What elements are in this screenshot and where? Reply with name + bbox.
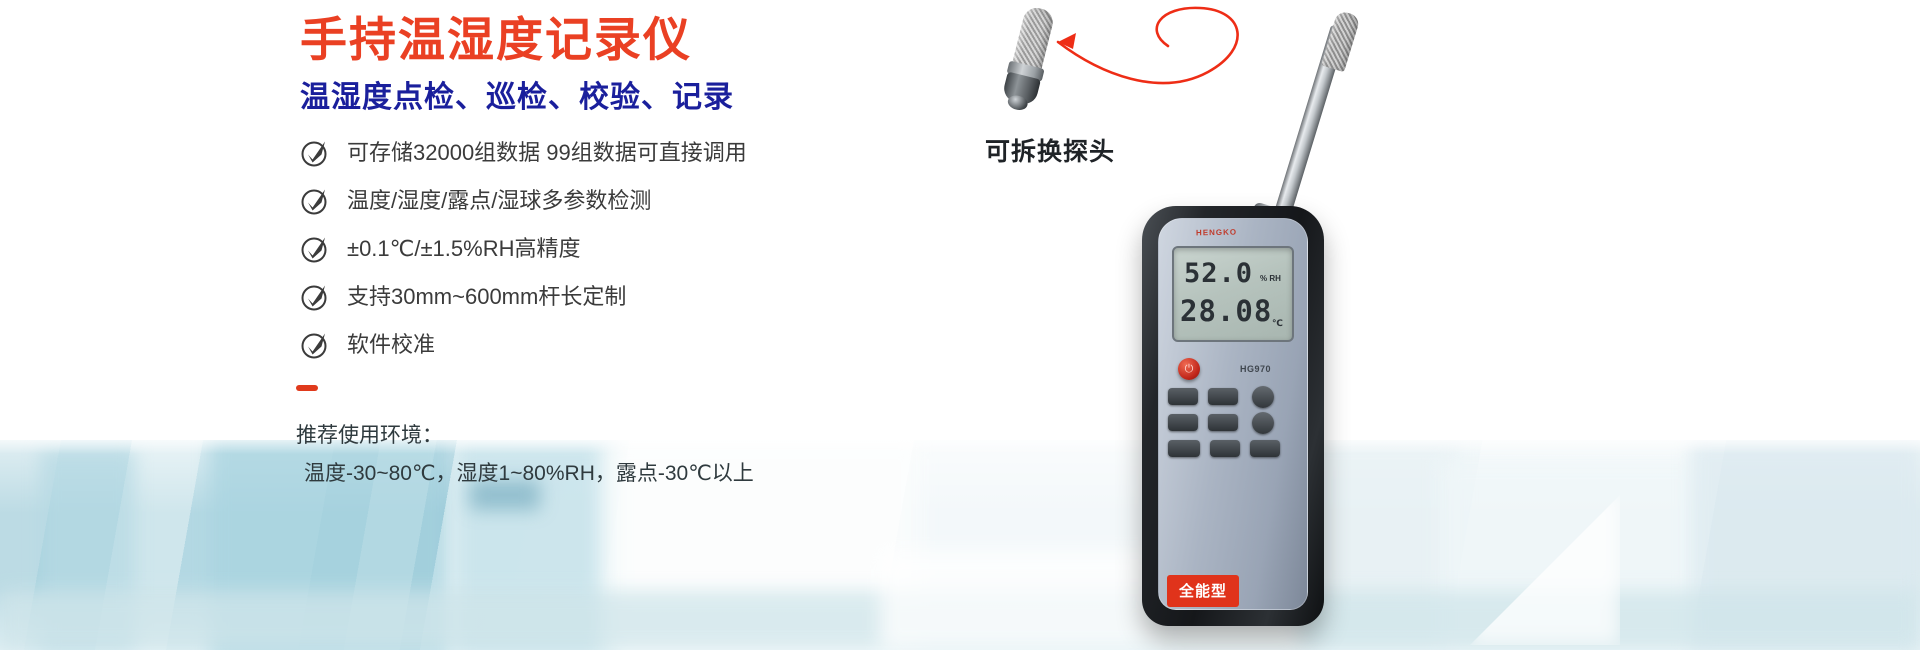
list-item-label: 温度/湿度/露点/湿球多参数检测 xyxy=(347,186,651,216)
lcd-temperature-value: 28.08 xyxy=(1180,296,1272,326)
device-keypad xyxy=(1164,388,1312,508)
device-lcd-screen: 52.0 % RH 28.08 ℃ xyxy=(1172,246,1294,342)
key-hold[interactable] xyxy=(1250,440,1280,457)
key-rec[interactable] xyxy=(1210,440,1240,457)
device-brand-label: HENGKO xyxy=(1196,228,1237,238)
list-item: 支持30mm~600mm杆长定制 xyxy=(300,275,1000,319)
page-title: 手持温湿度记录仪 xyxy=(300,12,692,68)
lcd-temperature-unit: ℃ xyxy=(1272,318,1283,329)
environment-note: 推荐使用环境： 温度-30~80℃，湿度1~80%RH，露点-30℃以上 xyxy=(296,385,996,493)
check-circle-icon xyxy=(300,282,330,312)
check-circle-icon xyxy=(300,330,330,360)
list-item: ±0.1℃/±1.5%RH高精度 xyxy=(300,227,1000,271)
product-banner: 手持温湿度记录仪 温湿度点检、巡检、校验、记录 可存储32000组数据 99组数… xyxy=(0,0,1920,650)
red-dash-divider xyxy=(296,385,318,391)
detached-probe-image xyxy=(993,3,1072,121)
key-up[interactable] xyxy=(1252,386,1274,408)
lcd-humidity-value: 52.0 xyxy=(1184,260,1253,288)
list-item-label: ±0.1℃/±1.5%RH高精度 xyxy=(347,234,580,264)
device-model-label: HG970 xyxy=(1240,364,1271,374)
list-item-label: 支持30mm~600mm杆长定制 xyxy=(347,282,626,312)
key-max-min[interactable] xyxy=(1168,388,1198,405)
product-device-image: HENGKO 52.0 % RH 28.08 ℃ ⏻ HG970 xyxy=(1100,10,1400,630)
list-item: 温度/湿度/露点/湿球多参数检测 xyxy=(300,179,1000,223)
status-badge: 全能型 xyxy=(1167,575,1239,607)
lcd-humidity-unit: % RH xyxy=(1260,274,1281,283)
feature-list: 可存储32000组数据 99组数据可直接调用 温度/湿度/露点/湿球多参数检测 … xyxy=(300,131,1000,371)
environment-note-title: 推荐使用环境： xyxy=(296,417,996,455)
environment-note-detail: 温度-30~80℃，湿度1~80%RH，露点-30℃以上 xyxy=(296,455,996,493)
key-set[interactable] xyxy=(1208,414,1238,431)
power-button[interactable]: ⏻ xyxy=(1178,358,1200,380)
key-save[interactable] xyxy=(1168,440,1200,457)
check-circle-icon xyxy=(300,234,330,264)
list-item-label: 可存储32000组数据 99组数据可直接调用 xyxy=(347,138,747,168)
key-down[interactable] xyxy=(1252,412,1274,434)
probe-callout-label: 可拆换探头 xyxy=(985,132,1115,168)
key-mode[interactable] xyxy=(1168,414,1198,431)
check-circle-icon xyxy=(300,186,330,216)
page-subtitle: 温湿度点检、巡检、校验、记录 xyxy=(300,79,734,117)
list-item: 软件校准 xyxy=(300,323,1000,367)
list-item: 可存储32000组数据 99组数据可直接调用 xyxy=(300,131,1000,175)
list-item-label: 软件校准 xyxy=(347,330,435,360)
check-circle-icon xyxy=(300,138,330,168)
key-unit-c-f[interactable] xyxy=(1208,388,1238,405)
